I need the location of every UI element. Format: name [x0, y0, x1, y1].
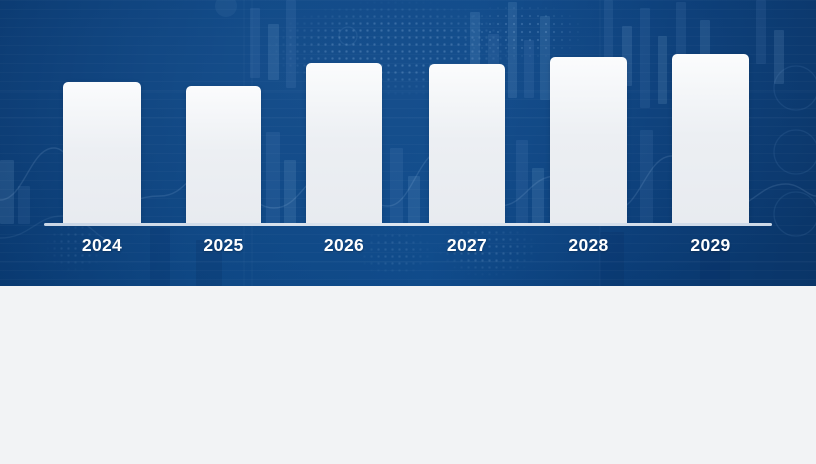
x-axis-label-2027: 2027 [429, 235, 505, 256]
bar-2025 [186, 86, 261, 223]
x-axis-label-2029: 2029 [672, 235, 749, 256]
bar-2026 [306, 63, 382, 223]
bar-2024 [63, 82, 141, 223]
bar-2029 [672, 54, 749, 223]
x-axis-label-2028: 2028 [550, 235, 627, 256]
x-axis-label-2026: 2026 [306, 235, 382, 256]
market-size-infographic: 202420252026202720282029 [0, 0, 816, 464]
summary-stats-strip: 3.5% CAGR (2024-2029) [0, 286, 816, 464]
x-axis-label-2024: 2024 [63, 235, 141, 256]
x-axis-line [44, 223, 772, 226]
bar-2027 [429, 64, 505, 223]
dotted-world-map-icon [252, 0, 552, 100]
chart-panel: 202420252026202720282029 [0, 0, 816, 286]
bar-2028 [550, 57, 627, 223]
x-axis-label-2025: 2025 [186, 235, 261, 256]
